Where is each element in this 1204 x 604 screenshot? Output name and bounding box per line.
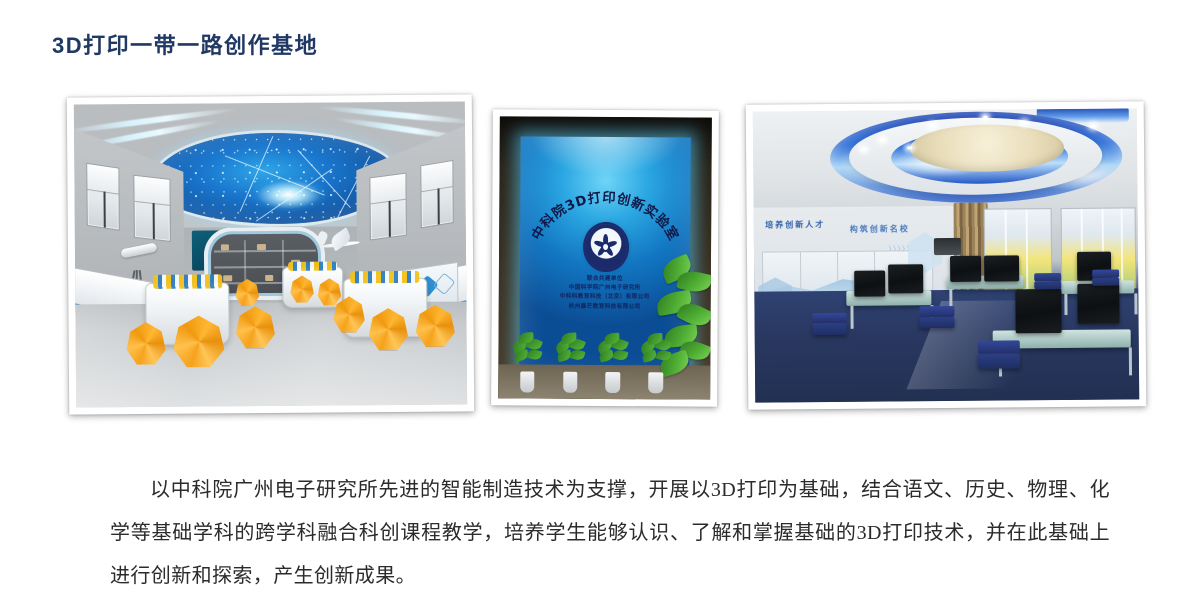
window	[420, 160, 454, 228]
potted-plant	[596, 331, 630, 393]
computer-monitor	[1015, 289, 1061, 333]
potted-plant-row	[507, 331, 702, 394]
cas-flower-logo-icon	[585, 224, 628, 270]
potted-plant	[511, 331, 545, 393]
body-paragraph: 以中科院广州电子研究所先进的智能制造技术为支撑，开展以3D打印为基础，结合语文、…	[110, 469, 1110, 598]
ceiling-downlight	[1022, 121, 1027, 124]
computer-monitor	[854, 271, 885, 297]
potted-plant	[639, 332, 673, 394]
photo-1-image	[74, 101, 467, 407]
model-airplane	[317, 230, 364, 258]
page-title: 3D打印一带一路创作基地	[52, 28, 318, 60]
wall-slogan-right: 构筑创新名校	[850, 224, 910, 236]
wall-slogan-left: 培养创新人才	[765, 219, 825, 231]
ceiling-downlight	[929, 124, 934, 127]
window	[86, 162, 120, 230]
ceiling-wave-light	[316, 104, 467, 126]
classroom-chair	[978, 354, 1020, 369]
ceiling-downlight	[907, 146, 912, 149]
ceiling-downlight	[861, 148, 866, 151]
window	[370, 172, 408, 239]
ceiling-downlight	[880, 138, 885, 141]
classroom-chair	[1035, 281, 1062, 290]
computer-monitor	[1077, 283, 1120, 324]
air-conditioner-unit	[934, 238, 961, 256]
window	[133, 175, 171, 242]
classroom-chair	[1092, 277, 1119, 286]
computer-monitor	[950, 255, 981, 281]
classroom-chair	[812, 323, 847, 335]
photo-1-frame[interactable]	[67, 94, 474, 414]
computer-monitor	[984, 255, 1019, 281]
computer-monitor	[888, 264, 923, 293]
photo-2-frame[interactable]: 中科院3D打印创新实验室 联合共建单位 中国科学院广州电子研究所 中科科教育科技…	[491, 109, 719, 406]
photo-3-frame[interactable]: 培养创新人才 构筑创新名校 〉〉〉〉〉〉	[746, 101, 1147, 409]
photo-2-image: 中科院3D打印创新实验室 联合共建单位 中国科学院广州电子研究所 中科科教育科技…	[498, 116, 712, 399]
potted-plant	[553, 331, 587, 393]
photo-3-image: 培养创新人才 构筑创新名校 〉〉〉〉〉〉	[753, 108, 1140, 402]
classroom-chair	[920, 317, 955, 329]
